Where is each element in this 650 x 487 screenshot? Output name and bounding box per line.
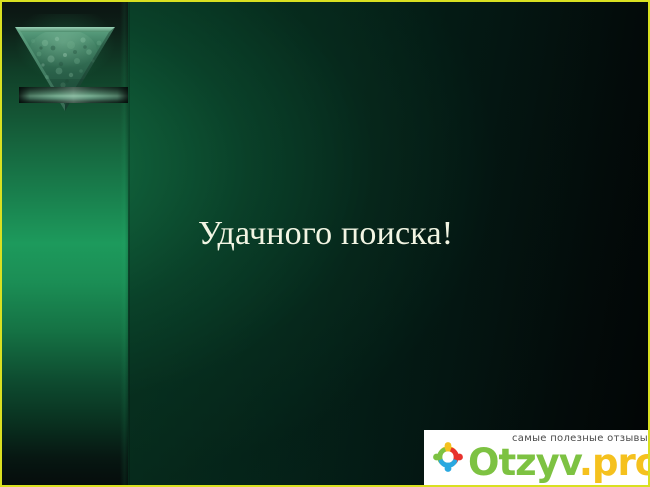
- otzyv-pro-watermark[interactable]: самые полезные отзывы Otzyv.pro: [424, 430, 650, 485]
- slide-headline: Удачного поиска!: [198, 212, 518, 256]
- presentation-slide: Удачного поиска!: [0, 0, 650, 487]
- brand-primary: Otzyv: [468, 441, 579, 484]
- people-pinwheel-icon: [426, 437, 470, 481]
- inverted-triangle-emblem: [8, 14, 122, 110]
- brand-suffix: .pro: [579, 441, 650, 484]
- watermark-brand: Otzyv.pro: [468, 442, 650, 483]
- metal-band-sheen: [19, 87, 128, 103]
